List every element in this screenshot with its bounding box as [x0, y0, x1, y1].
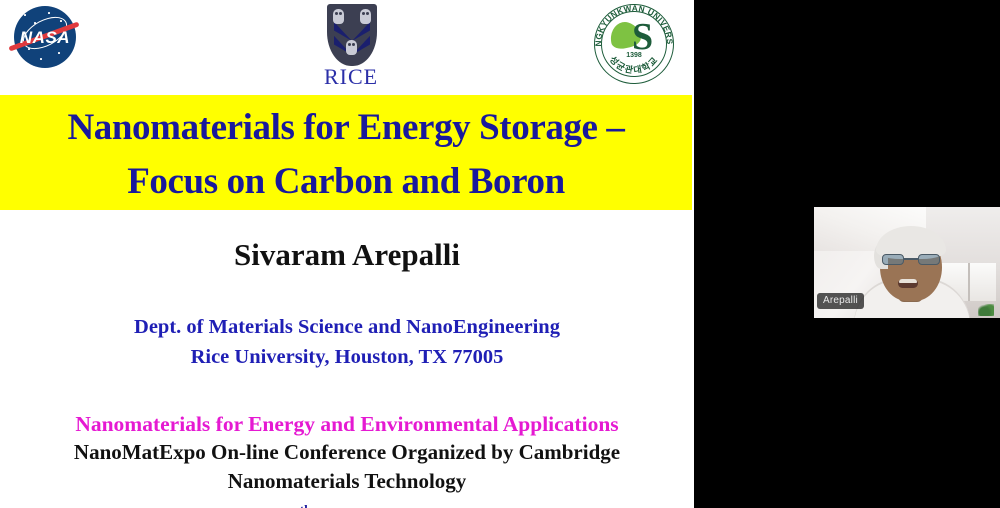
glasses-icon: [882, 254, 940, 265]
conference-theme: Nanomaterials for Energy and Environment…: [0, 372, 694, 438]
conference-organizer-line-1: NanoMatExpo On-line Conference Organized…: [0, 438, 694, 467]
participant-teeth: [899, 279, 917, 283]
presenter-name: Sivaram Arepalli: [0, 212, 694, 275]
participant-name-badge: Arepalli: [817, 293, 864, 309]
affiliation-line-1: Dept. of Materials Science and NanoEngin…: [0, 275, 694, 342]
nasa-wordmark: NASA: [16, 28, 74, 48]
video-window-mullion: [968, 263, 970, 301]
slide-title-line1: Nanomaterials for Energy Storage –: [0, 95, 692, 155]
nasa-logo: NASA: [10, 4, 88, 70]
affiliation-line-2: Rice University, Houston, TX 77005: [0, 342, 694, 372]
conference-date: 7th May 2025: [0, 496, 694, 508]
video-conference-screen: NASA RICE S 1398: [0, 0, 1000, 508]
participant-video-tile[interactable]: Arepalli: [814, 207, 1000, 318]
slide-body: Sivaram Arepalli Dept. of Materials Scie…: [0, 212, 694, 508]
conference-organizer-line-2: Nanomaterials Technology: [0, 467, 694, 496]
owl-icon: [360, 9, 371, 24]
rice-university-logo: RICE: [305, 2, 397, 94]
rice-shield-icon: [327, 4, 377, 66]
conference-date-rest: May 2025: [311, 503, 404, 508]
slide-logo-strip: NASA RICE S 1398: [0, 0, 694, 95]
video-plant: [978, 304, 994, 316]
conference-date-day: 7: [289, 503, 300, 508]
skku-arc-top-label: SUNGKYUNKWAN UNIVERSITY: [594, 4, 674, 47]
owl-icon: [333, 9, 344, 24]
sungkyunkwan-university-logo: S 1398 SUNGKYUNKWAN UNIVERSITY 성균관대학교: [588, 2, 680, 94]
skku-arc-text: SUNGKYUNKWAN UNIVERSITY 성균관대학교: [594, 4, 674, 84]
conference-date-suffix: th: [300, 502, 312, 508]
skku-arc-bottom-label: 성균관대학교: [608, 54, 661, 76]
owl-icon: [346, 40, 357, 55]
rice-wordmark: RICE: [305, 64, 397, 90]
slide-title-band: Nanomaterials for Energy Storage – Focus…: [0, 95, 692, 210]
shared-slide[interactable]: NASA RICE S 1398: [0, 0, 694, 508]
slide-title-line2: Focus on Carbon and Boron: [0, 155, 692, 209]
